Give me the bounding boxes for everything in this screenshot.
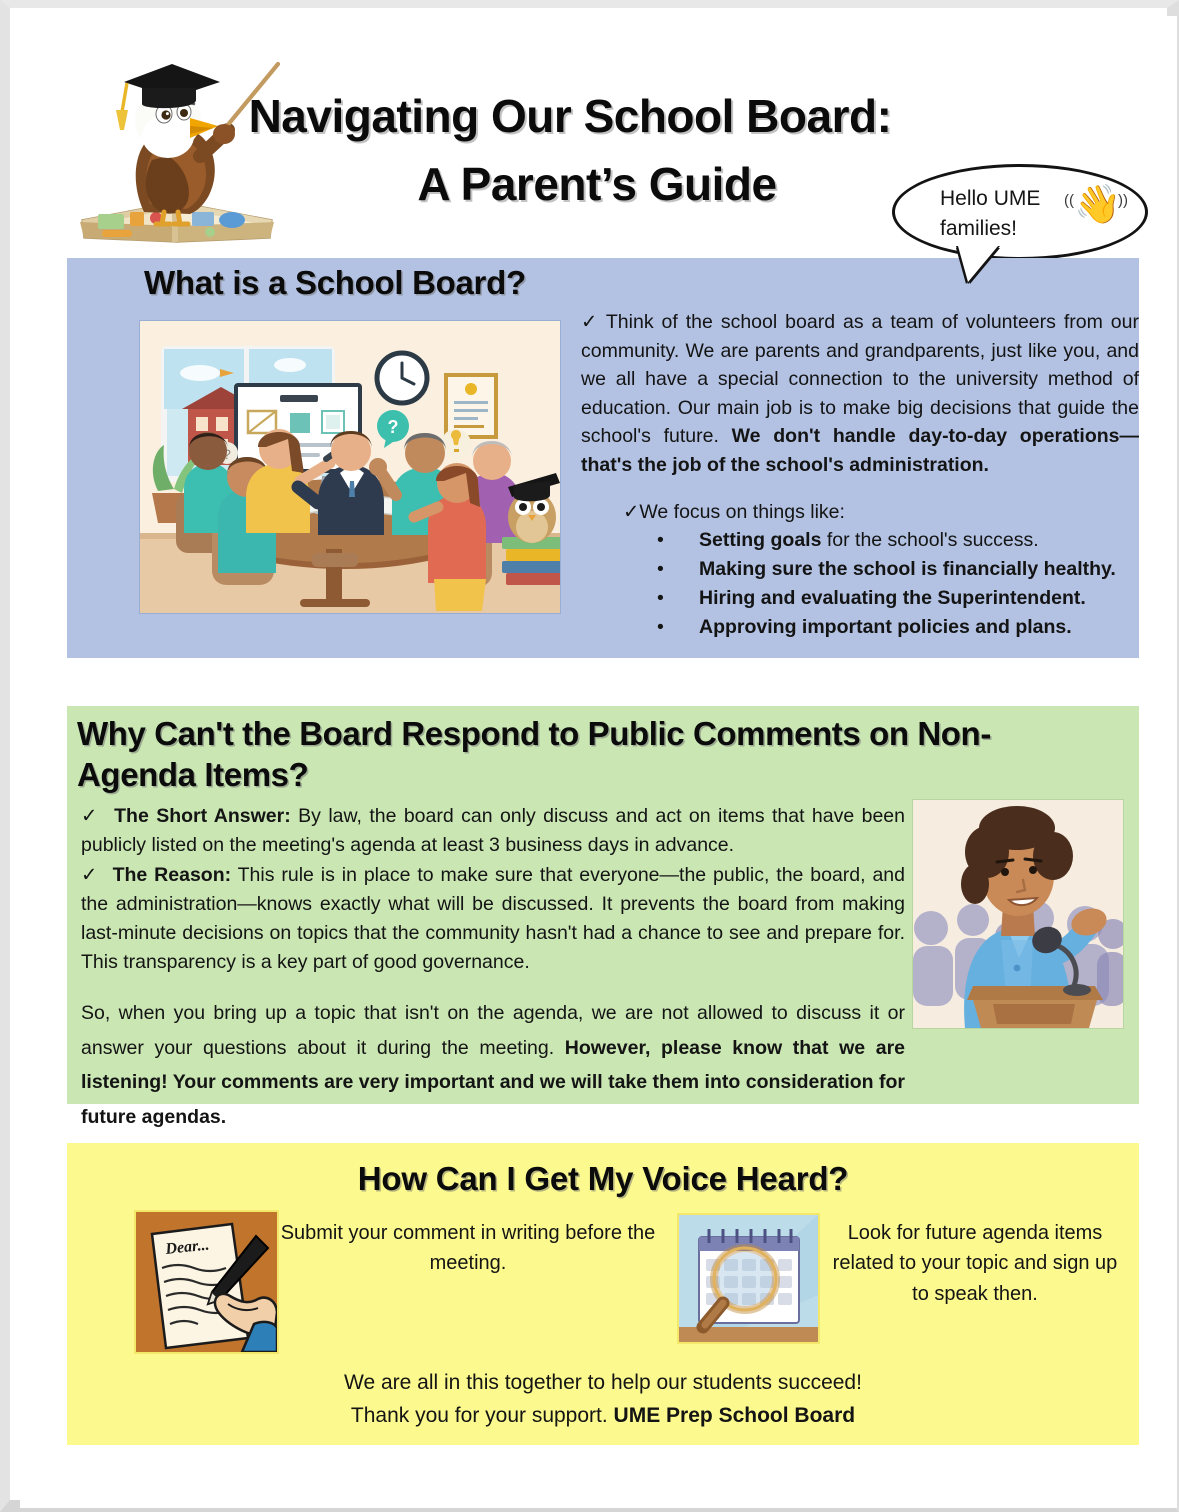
section-how-to-get-voice-heard: How Can I Get My Voice Heard? Dear... [67,1143,1139,1445]
option-1-text: Submit your comment in writing before th… [279,1218,657,1279]
bullet-icon: • [657,555,699,584]
bullet-bold-2: Hiring and evaluating the Superintendent… [699,587,1086,609]
wave-motion-right-icon: )) [1118,192,1128,209]
list-item: • Setting goals for the school's success… [657,526,1147,555]
check-icon: ✓ [81,864,99,886]
bullet-icon: • [657,613,699,642]
list-item: • Approving important policies and plans… [657,613,1147,642]
bullet-bold-3: Approving important policies and plans. [699,616,1072,638]
closing-line-2: Thank you for your support. UME Prep Sch… [67,1400,1139,1433]
check-icon: ✓ [581,311,606,333]
closing-line-1: We are all in this together to help our … [67,1367,1139,1400]
yellow-closing-block: We are all in this together to help our … [67,1367,1139,1432]
green-section-heading: Why Can't the Board Respond to Public Co… [77,714,1077,796]
blue-focus-intro-label: We focus on things like: [639,501,845,523]
short-answer-paragraph: ✓ The Short Answer: By law, the board ca… [81,802,905,861]
document-page: Navigating Our School Board: A Parent’s … [0,0,1179,1512]
wave-motion-left-icon: (( [1064,192,1074,209]
option-2-text: Look for future agenda items related to … [830,1218,1120,1309]
document-header: Navigating Our School Board: A Parent’s … [20,16,1177,258]
page-sheet: Navigating Our School Board: A Parent’s … [20,16,1177,1508]
waving-hand-icon: 👋 [1074,186,1121,224]
hand-writing-letter-icon: Dear... [134,1210,279,1354]
list-item: • Making sure the school is financially … [657,555,1147,584]
school-board-meeting-illustration: ? ? [139,320,561,614]
page-title: Navigating Our School Board: A Parent’s … [240,82,900,218]
calendar-magnifier-icon [677,1213,820,1344]
bullet-bold-1: Making sure the school is financially he… [699,558,1116,580]
page-title-line-1: Navigating Our School Board: [240,82,900,150]
blue-section-paragraph: ✓Think of the school board as a team of … [581,308,1139,479]
check-icon: ✓ [623,501,639,523]
check-icon: ✓ [81,805,99,827]
bullet-icon: • [657,526,699,555]
short-answer-label: The Short Answer: [114,805,291,827]
section-why-cant-board-respond: Why Can't the Board Respond to Public Co… [67,706,1139,1104]
bullet-rest-0: for the school's success. [821,529,1038,551]
svg-text:?: ? [388,417,399,437]
green-section-body: ✓ The Short Answer: By law, the board ca… [81,802,905,978]
bullet-bold-0: Setting goals [699,529,821,551]
speech-bubble-text: Hello UME families! [940,184,1070,244]
greeting-speech-bubble: Hello UME families! (( 👋 )) [892,164,1150,264]
blue-section-heading: What is a School Board? [144,264,526,302]
green-closing-paragraph: So, when you bring up a topic that isn't… [81,996,905,1135]
closing-line-2-plain: Thank you for your support. [351,1404,614,1427]
blue-bullet-list: • Setting goals for the school's success… [657,526,1147,642]
reason-paragraph: ✓ The Reason: This rule is in place to m… [81,861,905,978]
list-item: • Hiring and evaluating the Superintende… [657,584,1147,613]
bullet-icon: • [657,584,699,613]
section-what-is-a-school-board: What is a School Board? [67,258,1139,658]
closing-line-2-bold: UME Prep School Board [614,1404,856,1427]
reason-label: The Reason: [113,864,232,886]
page-title-line-2: A Parent’s Guide [240,150,900,218]
yellow-section-heading: How Can I Get My Voice Heard? [67,1160,1139,1198]
speech-bubble-tail [958,246,998,282]
blue-focus-intro: ✓We focus on things like: [623,498,1139,527]
woman-speaking-at-podium-illustration [912,799,1124,1029]
